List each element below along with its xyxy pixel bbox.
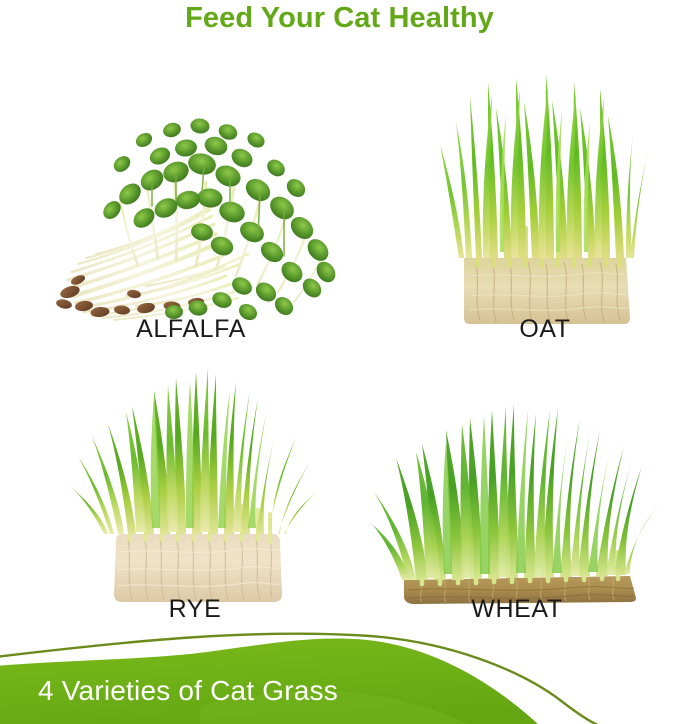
alfalfa-sprouts-photo xyxy=(26,60,356,330)
variety-card-rye: RYE xyxy=(60,320,330,610)
oat-grass-photo xyxy=(430,52,660,330)
variety-card-oat: OAT xyxy=(430,52,660,330)
page-title: Feed Your Cat Healthy xyxy=(0,2,679,35)
banner-headline: 4 Varieties of Cat Grass xyxy=(38,675,338,707)
variety-card-wheat: WHEAT xyxy=(372,352,662,610)
variety-grid: ALFALFA xyxy=(0,52,679,622)
bottom-banner: 4 Varieties of Cat Grass xyxy=(0,614,679,724)
variety-label-oat: OAT xyxy=(430,315,660,344)
wheat-grass-photo xyxy=(372,352,662,610)
variety-card-alfalfa: ALFALFA xyxy=(26,60,356,330)
rye-grass-photo xyxy=(60,320,330,610)
banner-wave-shape xyxy=(0,614,679,724)
